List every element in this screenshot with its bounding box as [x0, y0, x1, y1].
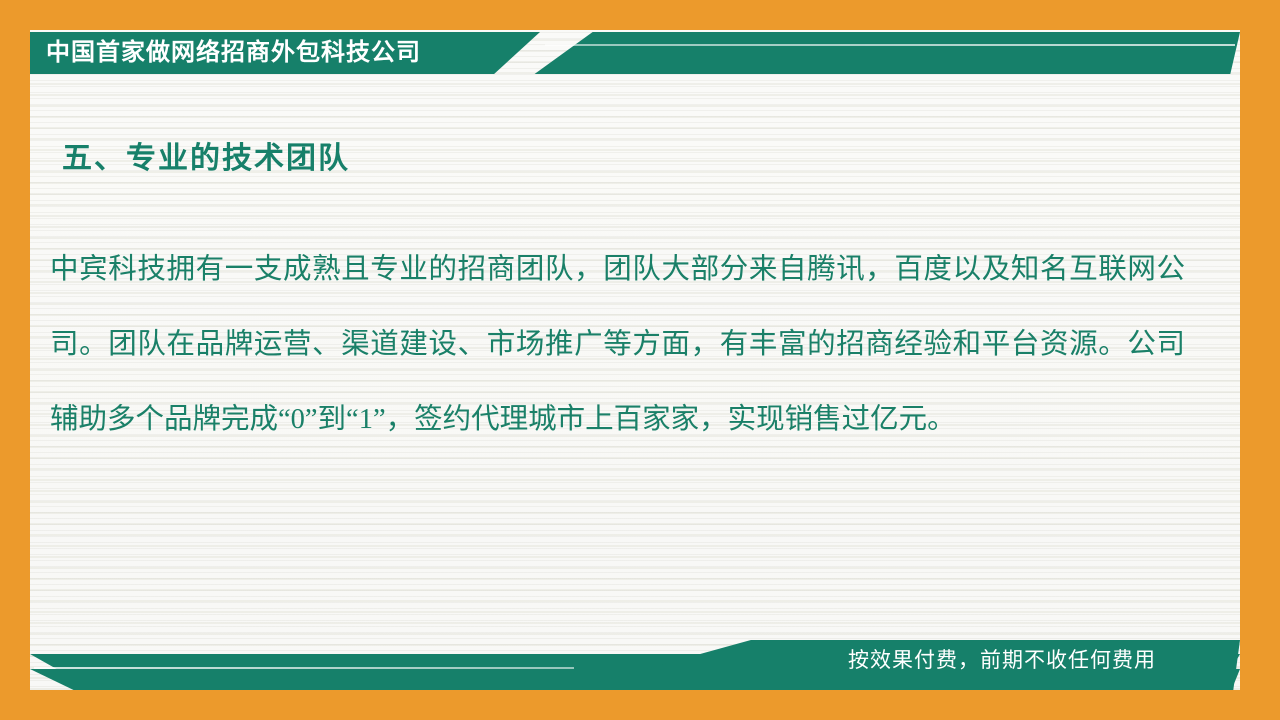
slide: 中国首家做网络招商外包科技公司 五、专业的技术团队 中宾科技拥有一支成熟且专业的…	[0, 0, 1280, 720]
border-bottom	[0, 690, 1280, 720]
footer-hairline-divider	[34, 667, 574, 669]
border-top	[0, 0, 1280, 30]
border-left	[0, 0, 30, 720]
border-right	[1240, 0, 1280, 720]
section-title: 五、专业的技术团队	[62, 133, 350, 177]
footer-tagline: 按效果付费，前期不收任何费用	[848, 646, 1156, 676]
body-paragraph: 中宾科技拥有一支成熟且专业的招商团队，团队大部分来自腾讯，百度以及知名互联网公司…	[50, 232, 1185, 457]
header-title: 中国首家做网络招商外包科技公司	[46, 36, 421, 70]
header-hairline-divider	[545, 44, 1235, 46]
